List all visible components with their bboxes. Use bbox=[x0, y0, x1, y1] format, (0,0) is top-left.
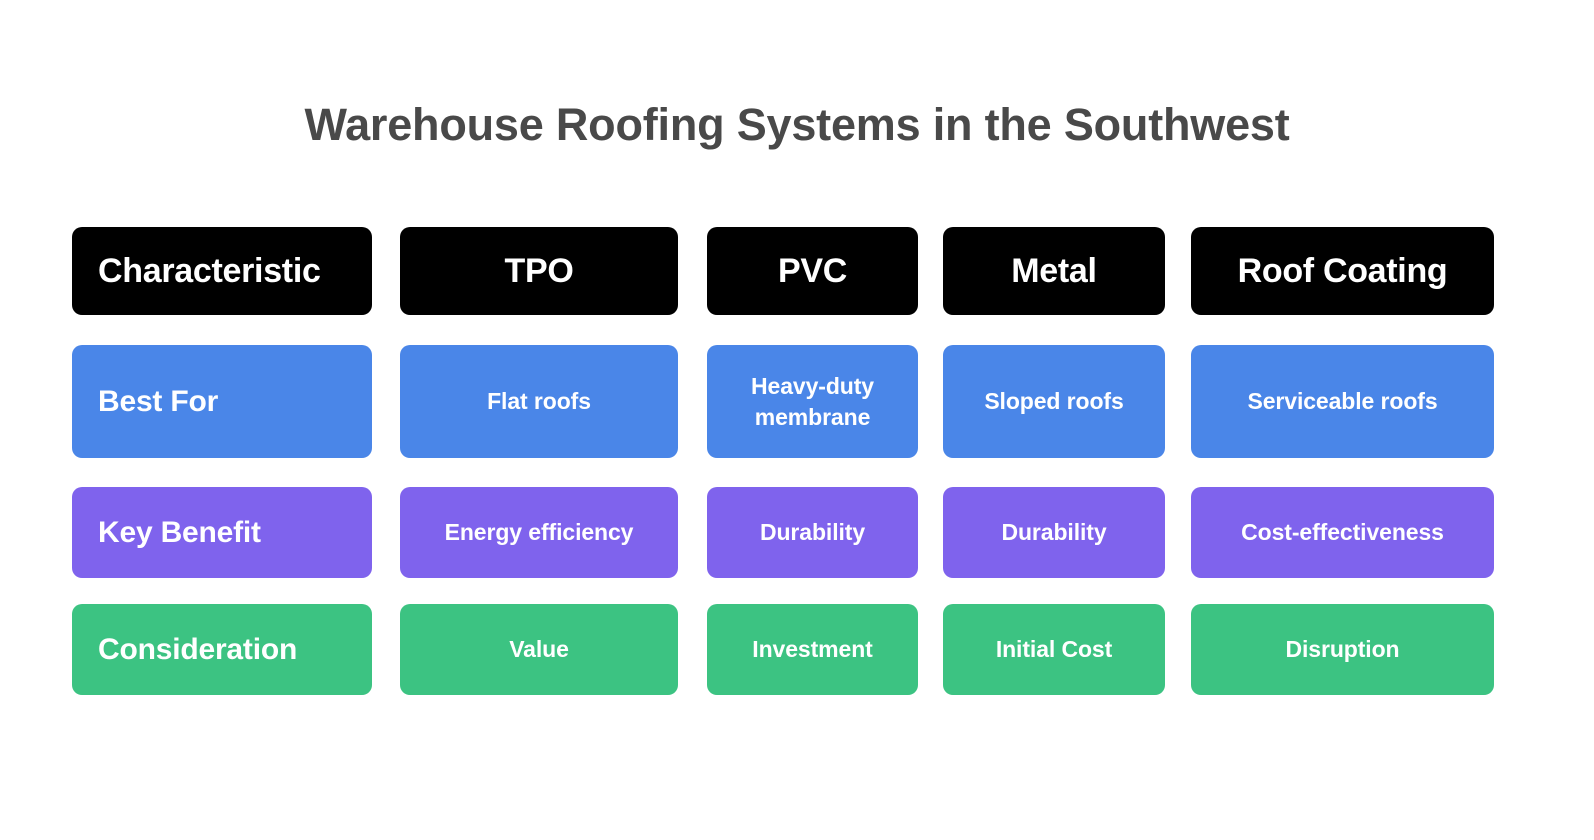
table-row-best-for: Best For Flat roofs Heavy-duty membrane … bbox=[72, 345, 1494, 458]
row-label: Consideration bbox=[98, 632, 297, 668]
cell-value: Energy efficiency bbox=[445, 517, 634, 548]
cell-value: Durability bbox=[1001, 517, 1106, 548]
cell-value: Heavy-duty membrane bbox=[717, 371, 908, 433]
header-cell-metal: Metal bbox=[943, 227, 1165, 315]
row-label: Key Benefit bbox=[98, 515, 261, 551]
slide-canvas: Warehouse Roofing Systems in the Southwe… bbox=[0, 0, 1594, 840]
cell-key-benefit-metal: Durability bbox=[943, 487, 1165, 578]
cell-value: Value bbox=[509, 634, 569, 665]
header-cell-label: TPO bbox=[505, 251, 574, 291]
cell-consideration-pvc: Investment bbox=[707, 604, 918, 695]
row-label-cell-best-for: Best For bbox=[72, 345, 372, 458]
cell-value: Sloped roofs bbox=[984, 386, 1123, 417]
cell-consideration-metal: Initial Cost bbox=[943, 604, 1165, 695]
table-header-row: Characteristic TPO PVC Metal Roof Coatin… bbox=[72, 227, 1494, 315]
cell-consideration-roof-coating: Disruption bbox=[1191, 604, 1494, 695]
row-label-cell-consideration: Consideration bbox=[72, 604, 372, 695]
header-cell-pvc: PVC bbox=[707, 227, 918, 315]
cell-key-benefit-tpo: Energy efficiency bbox=[400, 487, 678, 578]
header-cell-label: Roof Coating bbox=[1238, 251, 1448, 291]
cell-value: Flat roofs bbox=[487, 386, 591, 417]
header-cell-roof-coating: Roof Coating bbox=[1191, 227, 1494, 315]
cell-value: Cost-effectiveness bbox=[1241, 517, 1444, 548]
cell-value: Initial Cost bbox=[996, 634, 1112, 665]
table-row-key-benefit: Key Benefit Energy efficiency Durability… bbox=[72, 487, 1494, 578]
cell-value: Serviceable roofs bbox=[1247, 386, 1437, 417]
cell-key-benefit-pvc: Durability bbox=[707, 487, 918, 578]
page-title: Warehouse Roofing Systems in the Southwe… bbox=[0, 94, 1594, 156]
cell-best-for-pvc: Heavy-duty membrane bbox=[707, 345, 918, 458]
cell-value: Investment bbox=[752, 634, 872, 665]
cell-key-benefit-roof-coating: Cost-effectiveness bbox=[1191, 487, 1494, 578]
row-label-cell-key-benefit: Key Benefit bbox=[72, 487, 372, 578]
cell-value: Disruption bbox=[1286, 634, 1400, 665]
row-label: Best For bbox=[98, 384, 218, 420]
cell-best-for-roof-coating: Serviceable roofs bbox=[1191, 345, 1494, 458]
header-cell-tpo: TPO bbox=[400, 227, 678, 315]
cell-value: Durability bbox=[760, 517, 865, 548]
header-cell-label: Metal bbox=[1011, 251, 1096, 291]
header-cell-label: Characteristic bbox=[98, 251, 321, 291]
comparison-table: Characteristic TPO PVC Metal Roof Coatin… bbox=[72, 227, 1494, 695]
cell-best-for-metal: Sloped roofs bbox=[943, 345, 1165, 458]
table-row-consideration: Consideration Value Investment Initial C… bbox=[72, 604, 1494, 695]
header-cell-label: PVC bbox=[778, 251, 847, 291]
cell-consideration-tpo: Value bbox=[400, 604, 678, 695]
header-cell-characteristic: Characteristic bbox=[72, 227, 372, 315]
cell-best-for-tpo: Flat roofs bbox=[400, 345, 678, 458]
